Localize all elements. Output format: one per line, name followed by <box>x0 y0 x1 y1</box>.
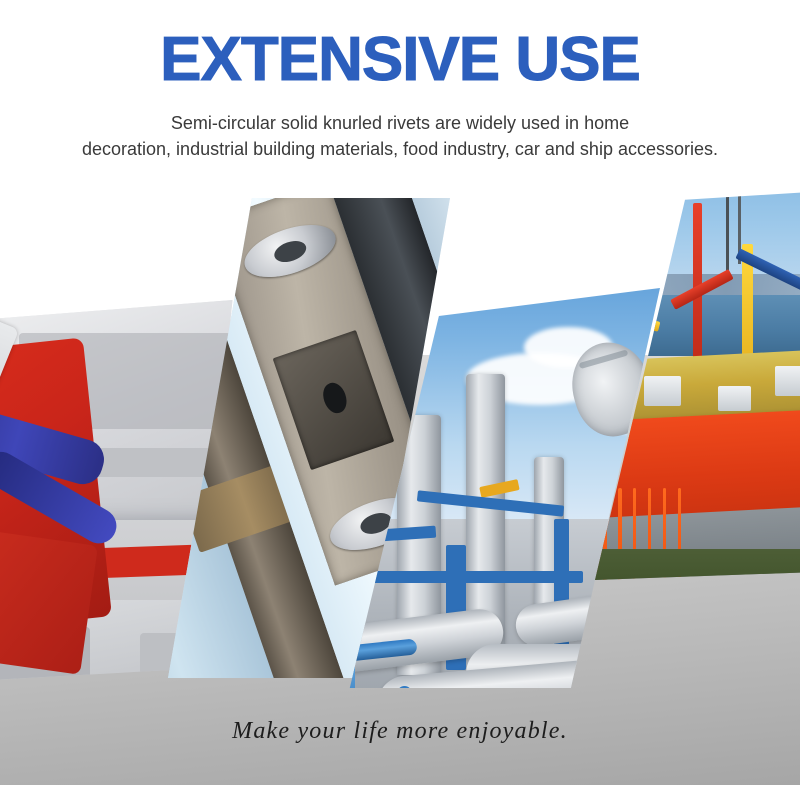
tagline: Make your life more enjoyable. <box>0 718 800 745</box>
deck-module-3 <box>775 366 800 396</box>
city-skyline <box>562 274 800 294</box>
crane-cable-1 <box>726 192 729 274</box>
subtitle-line-2: decoration, industrial building material… <box>60 136 740 162</box>
page-title: EXTENSIVE USE <box>0 26 800 94</box>
infographic-canvas: EXTENSIVE USE Semi-circular solid knurle… <box>0 0 800 800</box>
flare-tower-cap <box>578 234 611 295</box>
page-subtitle: Semi-circular solid knurled rivets are w… <box>60 110 740 162</box>
steel-beam-3 <box>368 571 584 582</box>
weathered-metal-strip <box>150 198 162 245</box>
deck-module-2 <box>718 386 751 411</box>
subtitle-line-1: Semi-circular solid knurled rivets are w… <box>60 110 740 136</box>
bottom-white-edge <box>0 785 800 800</box>
deck-module-1 <box>644 376 681 406</box>
